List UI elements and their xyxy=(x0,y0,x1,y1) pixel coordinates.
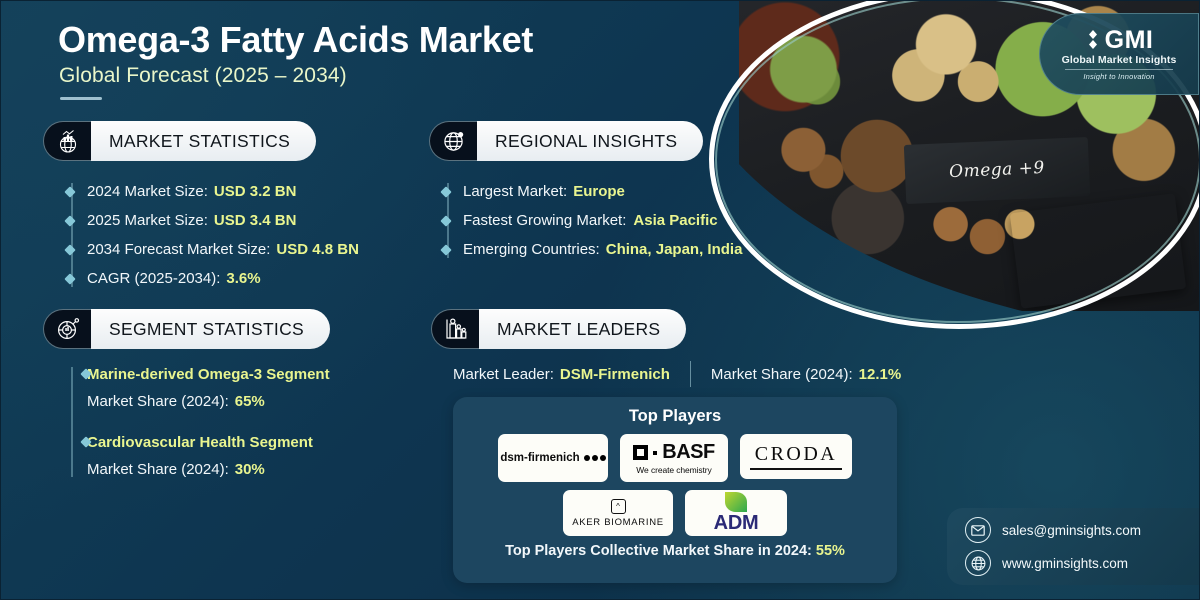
segment-statistics-header: SEGMENT STATISTICS xyxy=(43,309,330,349)
contact-website-text: www.gminsights.com xyxy=(1002,556,1128,571)
leader-share-value: 12.1% xyxy=(859,366,902,383)
gmi-name: GMI xyxy=(1105,28,1154,53)
adm-leaf-mark-icon xyxy=(725,492,747,512)
stat-value: USD 4.8 BN xyxy=(276,241,359,258)
list-item: 2025 Market Size: USD 3.4 BN xyxy=(71,206,431,235)
list-item: CAGR (2025-2034): 3.6% xyxy=(71,264,431,293)
basf-square-mark-icon xyxy=(633,445,648,460)
regional-insights-header: REGIONAL INSIGHTS xyxy=(429,121,703,161)
contact-email-row[interactable]: sales@gminsights.com xyxy=(965,517,1187,543)
segment-statistics-list: Marine-derived Omega-3 Segment Market Sh… xyxy=(71,361,451,483)
market-leader-value: DSM-Firmenich xyxy=(560,366,670,383)
gmi-rule xyxy=(1065,69,1173,70)
segment-share-value: 65% xyxy=(235,393,265,410)
chalkboard-text: Omega +9 xyxy=(903,137,1089,204)
list-rail xyxy=(71,367,73,477)
logo-aker-biomarine-text: AKER BIOMARINE xyxy=(572,517,664,528)
list-item: Emerging Countries: China, Japan, India xyxy=(447,235,827,264)
diamond-bullet-icon xyxy=(440,244,451,255)
title-underline xyxy=(60,97,102,100)
region-label: Largest Market: xyxy=(463,183,567,200)
stat-value: 3.6% xyxy=(226,270,260,287)
segment-title: Marine-derived Omega-3 Segment xyxy=(87,366,330,383)
top-players-logos-row-1: dsm-firmenich BASF We create chemistry C… xyxy=(498,434,852,482)
logo-dsm-firmenich: dsm-firmenich xyxy=(498,434,608,482)
contact-block: sales@gminsights.com www.gminsights.com xyxy=(947,508,1199,585)
stat-label: CAGR (2025-2034): xyxy=(87,270,220,287)
logo-basf-text: BASF xyxy=(662,441,714,464)
globe-icon xyxy=(965,550,991,576)
contact-website-row[interactable]: www.gminsights.com xyxy=(965,550,1187,576)
diamond-bullet-icon xyxy=(64,186,75,197)
three-dots-mark-icon xyxy=(584,455,606,461)
leader-share-label: Market Share (2024): xyxy=(711,366,853,383)
logo-croda-text: CRODA xyxy=(755,443,838,466)
market-statistics-title: MARKET STATISTICS xyxy=(89,121,316,161)
segment-share-label: Market Share (2024): xyxy=(87,461,229,478)
top-players-footer: Top Players Collective Market Share in 2… xyxy=(505,543,845,559)
top-players-footer-label: Top Players Collective Market Share in 2… xyxy=(505,543,812,559)
page-subtitle: Global Forecast (2025 – 2034) xyxy=(59,64,347,88)
stat-label: 2025 Market Size: xyxy=(87,212,208,229)
top-players-panel: Top Players dsm-firmenich BASF We create… xyxy=(453,397,897,583)
envelope-icon xyxy=(965,517,991,543)
croda-underline xyxy=(750,468,842,470)
region-value: China, Japan, India xyxy=(606,241,743,258)
logo-adm-text: ADM xyxy=(714,512,759,535)
stat-value: USD 3.2 BN xyxy=(214,183,297,200)
logo-croda: CRODA xyxy=(740,434,852,479)
donut-chart-icon xyxy=(43,309,91,349)
list-item: Fastest Growing Market: Asia Pacific xyxy=(447,206,827,235)
logo-adm: ADM xyxy=(685,490,787,536)
top-players-title: Top Players xyxy=(629,407,721,426)
diamond-bullet-icon xyxy=(440,186,451,197)
chalkboard: Omega +9 xyxy=(903,137,1089,204)
gmi-brand-badge: GMI Global Market Insights Insight to In… xyxy=(1039,13,1199,95)
globe-pin-icon xyxy=(429,121,477,161)
segment-title: Cardiovascular Health Segment xyxy=(87,434,313,451)
list-item: Marine-derived Omega-3 Segment Market Sh… xyxy=(71,361,451,415)
regional-insights-list: Largest Market: Europe Fastest Growing M… xyxy=(447,177,827,264)
market-statistics-header: MARKET STATISTICS xyxy=(43,121,316,161)
top-players-footer-value: 55% xyxy=(816,543,845,559)
list-item: 2024 Market Size: USD 3.2 BN xyxy=(71,177,431,206)
segment-share-value: 30% xyxy=(235,461,265,478)
logo-aker-biomarine: ^ AKER BIOMARINE xyxy=(563,490,673,536)
aker-hex-mark-icon: ^ xyxy=(611,499,626,514)
diamond-bullet-icon xyxy=(440,215,451,226)
diamond-bullet-icon xyxy=(64,244,75,255)
diamond-bullet-icon xyxy=(64,273,75,284)
list-item: 2034 Forecast Market Size: USD 4.8 BN xyxy=(71,235,431,264)
logo-basf: BASF We create chemistry xyxy=(620,434,728,482)
page-title: Omega-3 Fatty Acids Market xyxy=(58,19,533,61)
list-item: Cardiovascular Health Segment Market Sha… xyxy=(71,429,451,483)
gmi-tagline: Insight to Innovation xyxy=(1083,72,1154,81)
region-value: Asia Pacific xyxy=(633,212,717,229)
globe-bar-chart-icon xyxy=(43,121,91,161)
infographic-root: Omega +9 GMI Global Market Insights Insi… xyxy=(0,0,1200,600)
logo-basf-tagline: We create chemistry xyxy=(636,465,711,475)
basf-dot-icon xyxy=(653,451,657,455)
market-leaders-title: MARKET LEADERS xyxy=(477,309,686,349)
region-label: Fastest Growing Market: xyxy=(463,212,626,229)
gmi-full-name: Global Market Insights xyxy=(1062,54,1177,66)
podium-leaderboard-icon xyxy=(431,309,479,349)
stat-label: 2024 Market Size: xyxy=(87,183,208,200)
top-players-logos-row-2: ^ AKER BIOMARINE ADM xyxy=(563,490,787,536)
market-leader-summary: Market Leader: DSM-Firmenich Market Shar… xyxy=(453,361,901,387)
stat-value: USD 3.4 BN xyxy=(214,212,297,229)
contact-email-text: sales@gminsights.com xyxy=(1002,523,1141,538)
segment-statistics-title: SEGMENT STATISTICS xyxy=(89,309,330,349)
diamond-bullet-icon xyxy=(64,215,75,226)
region-value: Europe xyxy=(573,183,625,200)
regional-insights-title: REGIONAL INSIGHTS xyxy=(475,121,703,161)
gmi-diamond-logo-icon xyxy=(1085,29,1102,51)
region-label: Emerging Countries: xyxy=(463,241,600,258)
market-leaders-header: MARKET LEADERS xyxy=(431,309,686,349)
segment-share-label: Market Share (2024): xyxy=(87,393,229,410)
stat-label: 2034 Forecast Market Size: xyxy=(87,241,270,258)
salmon-fillet xyxy=(1010,193,1186,309)
market-statistics-list: 2024 Market Size: USD 3.2 BN 2025 Market… xyxy=(71,177,431,293)
logo-dsm-firmenich-text: dsm-firmenich xyxy=(500,452,579,464)
vertical-divider xyxy=(690,361,691,387)
market-leader-label: Market Leader: xyxy=(453,366,554,383)
list-item: Largest Market: Europe xyxy=(447,177,827,206)
